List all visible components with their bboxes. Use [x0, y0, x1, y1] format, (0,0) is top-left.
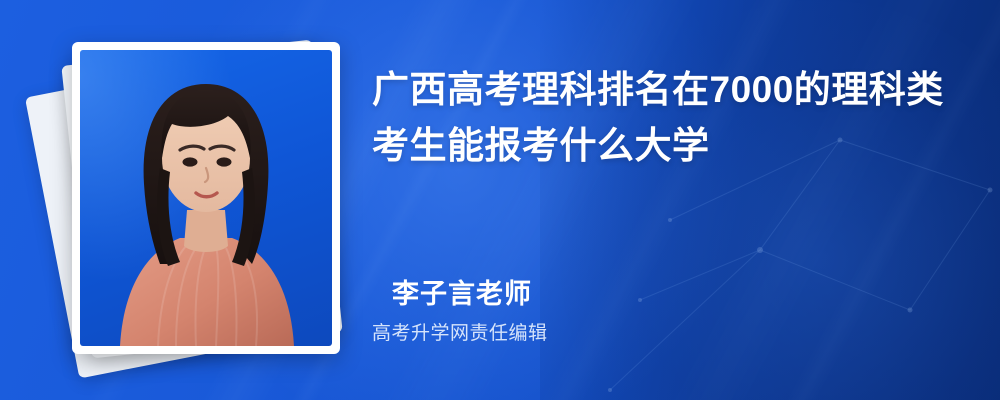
person-illustration [80, 50, 332, 346]
photo-card-front [72, 42, 340, 354]
article-cover-banner: 广西高考理科排名在7000的理科类考生能报考什么大学 李子言老师 高考升学网责任… [0, 0, 1000, 400]
page-title: 广西高考理科排名在7000的理科类考生能报考什么大学 [372, 62, 952, 174]
portrait-photo [80, 50, 332, 346]
photo-card-stack [48, 28, 368, 368]
author-name: 李子言老师 [392, 272, 532, 311]
author-role: 高考升学网责任编辑 [372, 318, 548, 345]
